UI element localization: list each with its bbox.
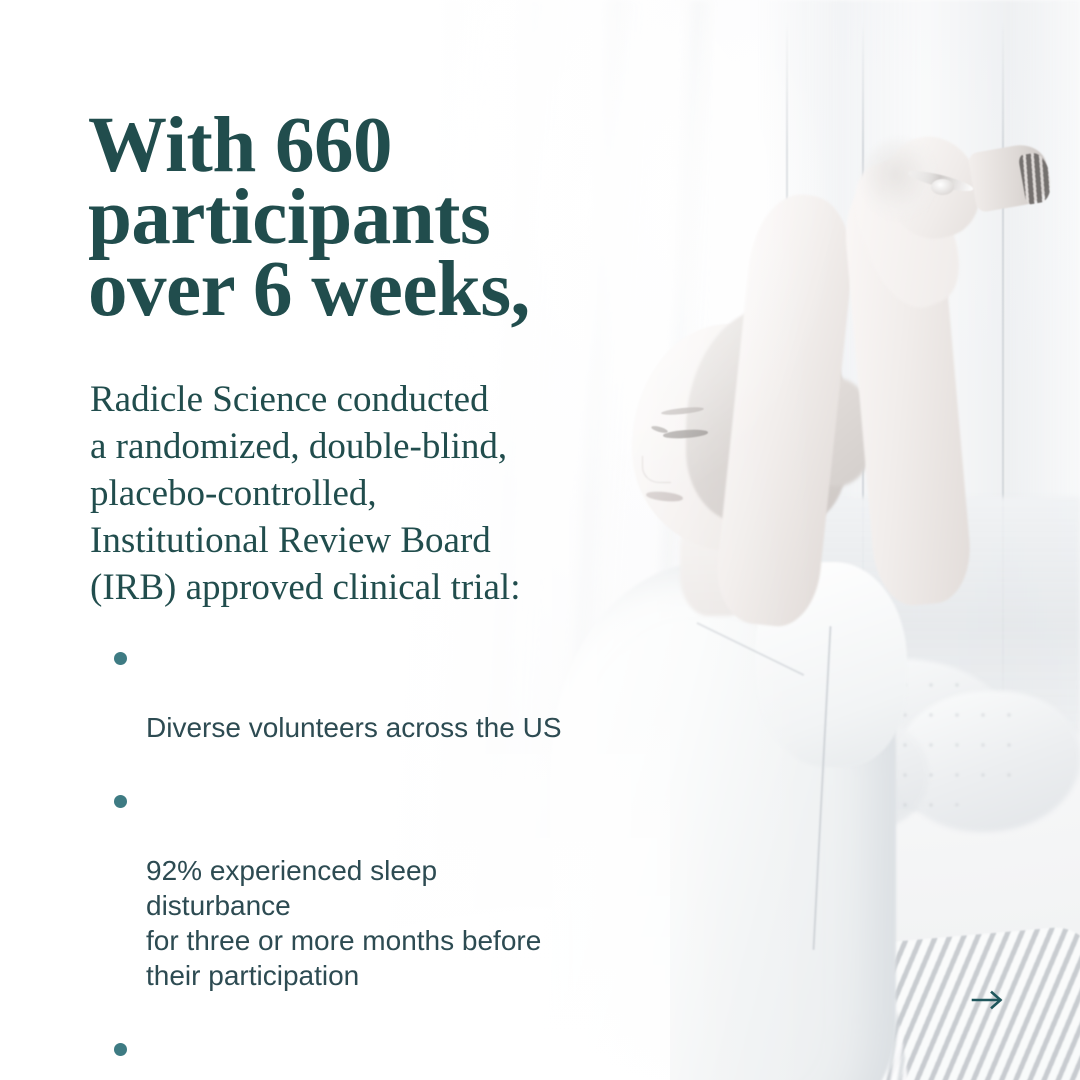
- list-item: 92% experienced sleep disturbance for th…: [110, 783, 580, 993]
- page-title: With 660 participants over 6 weeks,: [88, 110, 608, 326]
- bullet-dot-icon: [114, 795, 127, 808]
- study-details-list: Diverse volunteers across the US 92% exp…: [110, 640, 580, 1080]
- subheading-paragraph: Radicle Science conducted a randomized, …: [90, 376, 590, 611]
- social-post-slide: With 660 participants over 6 weeks, Radi…: [0, 0, 1080, 1080]
- list-item: Each participant was directed to take on…: [110, 1031, 580, 1080]
- list-item-label: Diverse volunteers across the US: [146, 712, 562, 743]
- bullet-dot-icon: [114, 1043, 127, 1056]
- arrow-right-icon[interactable]: [968, 982, 1008, 1018]
- list-item-label: 92% experienced sleep disturbance for th…: [146, 855, 541, 991]
- bullet-dot-icon: [114, 652, 127, 665]
- slide-content: With 660 participants over 6 weeks, Radi…: [0, 0, 1080, 1080]
- list-item: Diverse volunteers across the US: [110, 640, 580, 745]
